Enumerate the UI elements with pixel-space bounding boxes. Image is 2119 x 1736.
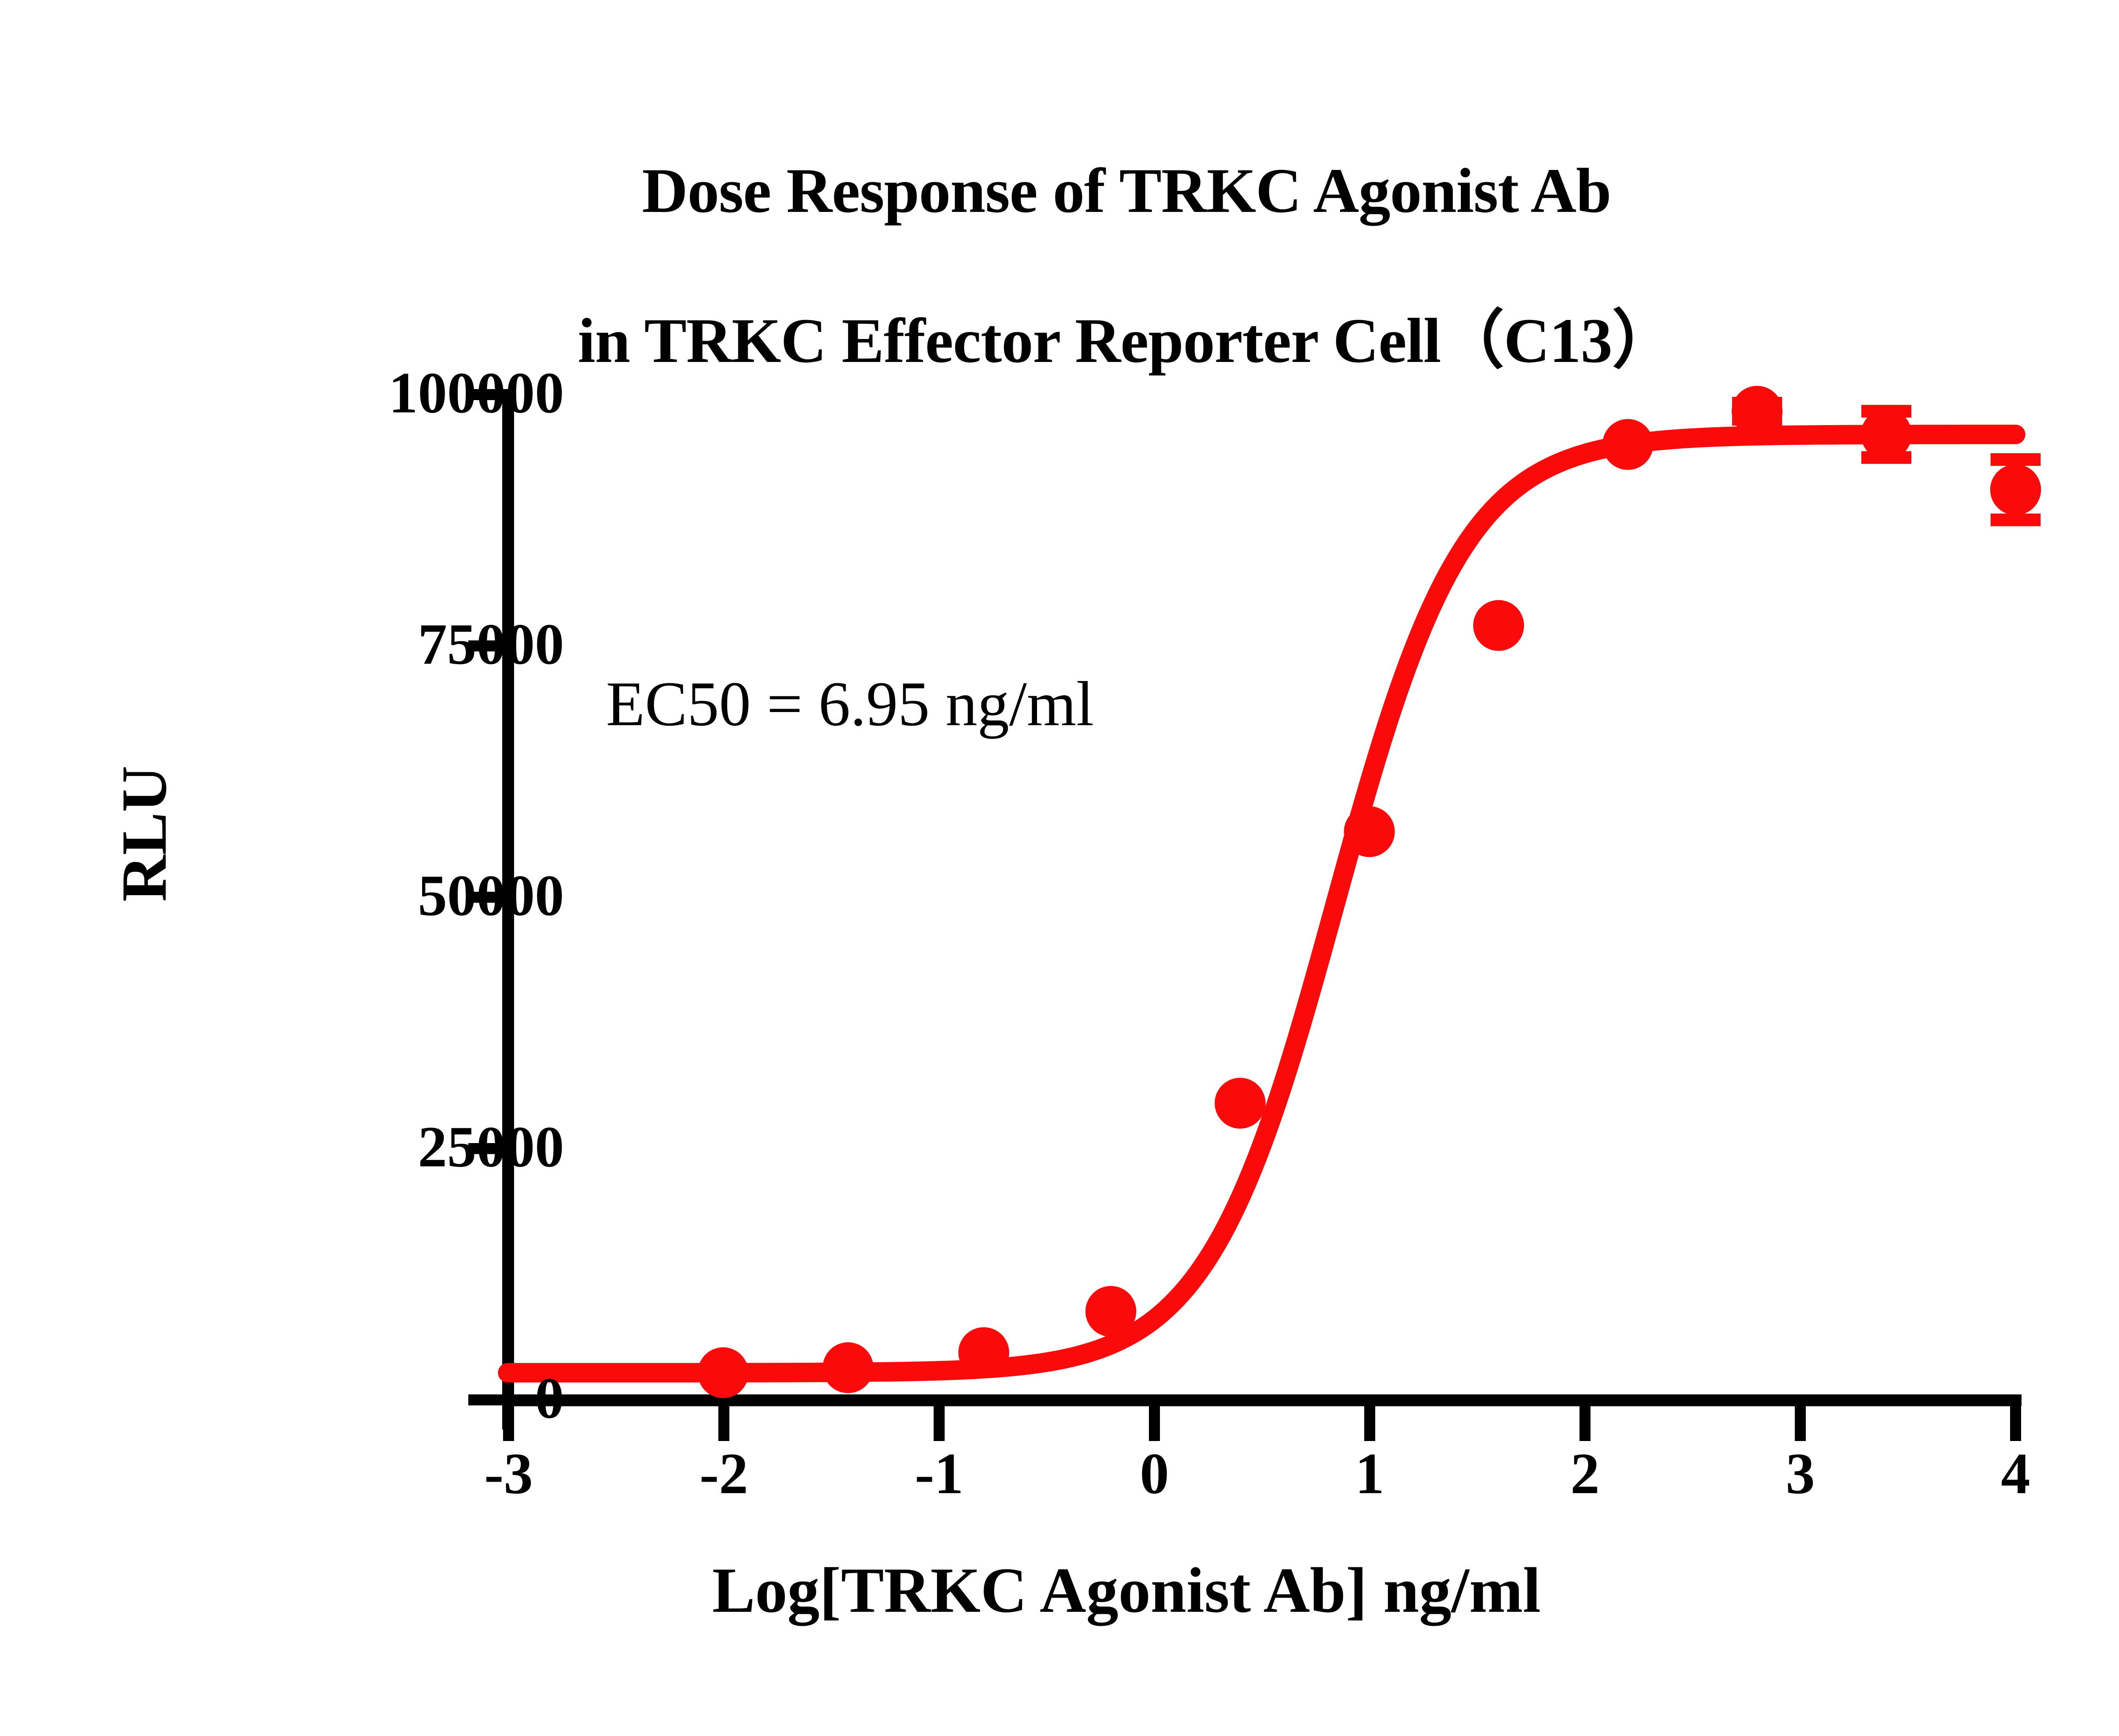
fit-curve-line bbox=[508, 434, 2016, 1373]
y-axis-title: RLU bbox=[107, 715, 181, 952]
data-point-marker bbox=[1732, 386, 1783, 437]
data-point-marker bbox=[1085, 1286, 1136, 1337]
x-tick-2 bbox=[1580, 1406, 1591, 1441]
y-tick-label-50000: 50000 bbox=[183, 866, 564, 925]
x-tick-minus1 bbox=[934, 1406, 945, 1441]
data-point-marker bbox=[823, 1342, 873, 1393]
x-tick-0 bbox=[1149, 1406, 1160, 1441]
data-point-marker bbox=[958, 1327, 1009, 1378]
x-tick-1 bbox=[1364, 1406, 1375, 1441]
data-point-marker bbox=[1861, 409, 1912, 460]
data-point-marker bbox=[1473, 600, 1524, 651]
chart-figure: Dose Response of TRKC Agonist Ab in TRKC… bbox=[0, 0, 2119, 1736]
data-point-marker bbox=[1344, 806, 1395, 857]
x-tick-label-3: 3 bbox=[1716, 1444, 1885, 1503]
x-tick-4 bbox=[2010, 1406, 2021, 1441]
x-tick-minus2 bbox=[718, 1406, 729, 1441]
axis-lines bbox=[502, 389, 2022, 1430]
x-tick-label-4: 4 bbox=[1931, 1444, 2100, 1503]
plot-area: 100000 75000 50000 25000 0 -3 -2 -1 0 1 … bbox=[0, 0, 2119, 1736]
y-tick-label-0: 0 bbox=[183, 1369, 564, 1427]
x-axis-ticks bbox=[503, 1406, 2021, 1441]
y-tick-label-75000: 75000 bbox=[183, 615, 564, 673]
data-point-markers bbox=[698, 386, 2041, 1398]
error-bar-cap-upper bbox=[1991, 453, 2041, 466]
x-tick-3 bbox=[1795, 1406, 1806, 1441]
x-tick-label-1: 1 bbox=[1285, 1444, 1454, 1503]
error-bar-cap-lower bbox=[1991, 514, 2041, 526]
data-point-marker bbox=[1215, 1078, 1265, 1129]
x-tick-label-2: 2 bbox=[1500, 1444, 1670, 1503]
data-point-marker bbox=[1602, 419, 1653, 470]
data-point-marker bbox=[698, 1347, 748, 1398]
y-tick-label-25000: 25000 bbox=[183, 1118, 564, 1176]
x-axis-title: Log[TRKC Agonist Ab] ng/ml bbox=[0, 1553, 2119, 1627]
x-tick-label-minus3: -3 bbox=[424, 1444, 593, 1503]
data-point-marker bbox=[1990, 464, 2041, 515]
x-tick-label-0: 0 bbox=[1070, 1444, 1239, 1503]
y-tick-label-100000: 100000 bbox=[183, 364, 564, 422]
x-tick-label-minus1: -1 bbox=[854, 1444, 1024, 1503]
x-tick-label-minus2: -2 bbox=[639, 1444, 809, 1503]
ec50-annotation: EC50 = 6.95 ng/ml bbox=[606, 668, 1094, 740]
